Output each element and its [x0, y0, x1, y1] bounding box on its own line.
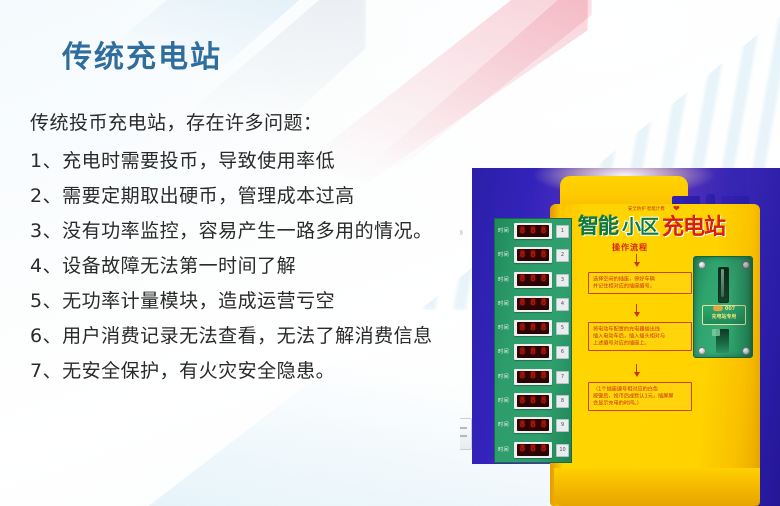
port-number-badge[interactable]: 4: [556, 298, 569, 311]
led-screen: 888: [517, 371, 549, 383]
led-display: 888: [514, 272, 552, 288]
lead-paragraph: 传统投币充电站，存在许多问题：: [30, 108, 323, 135]
led-digit: 8: [541, 299, 546, 308]
port-number-badge[interactable]: 6: [556, 346, 569, 359]
led-port-row: 时间8881: [495, 219, 571, 243]
led-port-row: 时间8886: [495, 340, 571, 364]
led-digit: 8: [530, 397, 535, 406]
list-item: 7、无安全保护，有火灾安全隐患。: [30, 354, 433, 389]
led-screen: 888: [517, 419, 549, 431]
led-display: 888: [514, 369, 552, 385]
led-time-label: 时间: [498, 373, 509, 380]
brand-tagline: 安全防护 智能计费: [628, 206, 665, 213]
led-port-row: 时间8887: [495, 365, 571, 389]
led-port-row: 时间8888: [495, 389, 571, 413]
brand-station-label: 充电站: [662, 209, 725, 241]
port-number-badge[interactable]: 8: [556, 395, 569, 408]
list-item: 4、设备故障无法第一时间了解: [30, 249, 433, 284]
led-digit: 8: [530, 227, 535, 236]
led-time-label: 时间: [498, 300, 509, 307]
brand-title: 智能 小区 充电站: [578, 210, 750, 240]
list-item: 5、无功率计量模块，造成运营亏空: [30, 284, 433, 319]
led-display: 888: [514, 417, 552, 433]
led-digit: 8: [520, 348, 525, 357]
flow-step-line: 会显示充电的时间。）: [593, 400, 698, 408]
port-number-badge[interactable]: 10: [556, 444, 569, 457]
flow-arrow-2: [636, 304, 637, 316]
port-number-badge[interactable]: 2: [556, 249, 569, 262]
led-display: 888: [514, 442, 552, 458]
led-time-label: 时间: [498, 349, 509, 356]
led-screen: 888: [517, 322, 549, 334]
led-time-label: 时间: [498, 422, 509, 429]
led-digit: 8: [530, 348, 535, 357]
led-digit: 8: [520, 445, 525, 454]
list-item: 1、充电时需要投币，导致使用率低: [30, 144, 433, 179]
led-display: 888: [514, 223, 552, 239]
heart-icon: ❤: [673, 204, 680, 213]
led-screen: 888: [517, 444, 549, 456]
flow-step-box: 将电动车配置的充电器插出线插入电动车后，插入插头相对与上述编号对应的插座上。: [588, 322, 692, 351]
led-digit: 8: [530, 299, 535, 308]
background-dot: [460, 230, 463, 235]
brand-smart-label: 智能: [578, 210, 618, 240]
cabinet-bottom-lip: [554, 468, 760, 506]
led-display: 888: [514, 247, 552, 263]
port-number-badge[interactable]: 5: [556, 322, 569, 335]
led-screen: 888: [517, 249, 549, 261]
led-digit: 8: [541, 372, 546, 381]
led-digit: 8: [541, 275, 546, 284]
led-port-row: 时间88810: [495, 438, 571, 462]
led-time-label: 时间: [498, 325, 509, 332]
led-digit: 8: [541, 421, 546, 430]
led-digit: 8: [530, 372, 535, 381]
led-digit: 8: [520, 421, 525, 430]
led-digit: 8: [520, 251, 525, 260]
led-digit: 8: [541, 251, 546, 260]
flow-chart-title: 操作流程: [612, 242, 648, 253]
led-port-row: 时间8882: [495, 243, 571, 267]
flow-arrow-1: [636, 254, 637, 266]
led-screen: 888: [517, 274, 549, 286]
flow-step-box: （1个插座编号相对应的白色按键后，投币后成默认1元，插屏屏会显示充电的时间。）: [588, 382, 692, 411]
led-port-row: 时间8889: [495, 413, 571, 437]
led-digit: 8: [520, 275, 525, 284]
flow-arrow-3: [636, 364, 637, 376]
problem-list: 1、充电时需要投币，导致使用率低 2、需要定期取出硬币，管理成本过高 3、没有功…: [30, 144, 433, 389]
page-title: 传统充电站: [62, 32, 222, 76]
coin-module-shading: [694, 257, 752, 357]
led-display: 888: [514, 320, 552, 336]
led-digit: 8: [520, 324, 525, 333]
led-digit: 8: [541, 227, 546, 236]
led-digit: 8: [530, 324, 535, 333]
led-time-label: 时间: [498, 252, 509, 259]
led-screen: 888: [517, 225, 549, 237]
led-digit: 8: [541, 397, 546, 406]
port-number-badge[interactable]: 7: [556, 371, 569, 384]
led-display: 888: [514, 393, 552, 409]
list-item: 6、用户消费记录无法查看，无法了解消费信息: [30, 319, 433, 354]
led-digit: 8: [530, 421, 535, 430]
led-digit: 8: [530, 251, 535, 260]
led-display: 888: [514, 344, 552, 360]
port-number-badge[interactable]: 9: [556, 419, 569, 432]
product-photo: 时间8881时间8882时间8883时间8884时间8885时间8886时间88…: [460, 168, 780, 506]
led-screen: 888: [517, 346, 549, 358]
list-item: 2、需要定期取出硬币，管理成本过高: [30, 179, 433, 214]
led-time-label: 时间: [498, 398, 509, 405]
led-digit: 8: [541, 348, 546, 357]
led-digit: 8: [541, 324, 546, 333]
led-digit: 8: [520, 299, 525, 308]
coin-acceptor-module[interactable]: 007 充电站专用: [693, 256, 753, 358]
led-digit: 8: [530, 445, 535, 454]
led-screen: 888: [517, 298, 549, 310]
led-digit: 8: [520, 372, 525, 381]
led-time-label: 时间: [498, 228, 509, 235]
slide-canvas: 传统充电站 传统投币充电站，存在许多问题： 1、充电时需要投币，导致使用率低 2…: [0, 0, 780, 506]
flow-step-box: 选择空闲的插座，停好车辆并记住相对应的插座编号。: [588, 272, 692, 294]
brand-community-label: 小区: [622, 212, 658, 239]
list-item: 3、没有功率监控，容易产生一路多用的情况。: [30, 214, 433, 249]
led-port-row: 时间8884: [495, 292, 571, 316]
led-status-panel: 时间8881时间8882时间8883时间8884时间8885时间8886时间88…: [494, 218, 572, 463]
port-number-badge[interactable]: 3: [556, 274, 569, 287]
led-digit: 8: [530, 275, 535, 284]
led-screen: 888: [517, 395, 549, 407]
led-port-row: 时间8885: [495, 316, 571, 340]
led-port-row: 时间8883: [495, 268, 571, 292]
background-object: [460, 418, 472, 450]
port-number-badge[interactable]: 1: [556, 225, 569, 238]
led-time-label: 时间: [498, 446, 509, 453]
led-digit: 8: [541, 445, 546, 454]
flow-step-line: 并记住相对应的插座编号。: [593, 283, 698, 291]
led-digit: 8: [520, 397, 525, 406]
led-digit: 8: [520, 227, 525, 236]
flow-step-line: 上述编号对应的插座上。: [593, 340, 698, 348]
led-time-label: 时间: [498, 276, 509, 283]
led-display: 888: [514, 296, 552, 312]
